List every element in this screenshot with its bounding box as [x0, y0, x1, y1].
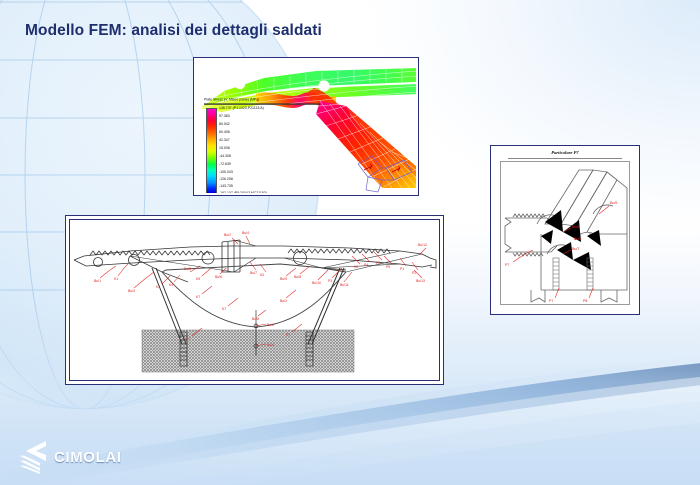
svg-text:Bu/7: Bu/7	[250, 271, 257, 275]
detail-p7-panel: Particolare P7	[490, 145, 640, 315]
girder-opening	[202, 252, 214, 264]
legend-value: -72.639	[219, 162, 231, 166]
legend-value: -162.107 (P5:20043,MC21183)	[219, 191, 267, 193]
svg-text:Bu/2: Bu/2	[224, 233, 231, 237]
elevation-drawing-panel: Bu/1 K1 Bu/3 K3 K4 Bu/5 K5 Bu/6 Bu/2 Bu/…	[65, 215, 444, 385]
svg-text:Bu/8: Bu/8	[252, 317, 259, 321]
fem-plot-inner: Plate Stress (V. Mises plane) (MPa) 135.…	[196, 60, 416, 193]
svg-text:Bu/6: Bu/6	[267, 323, 274, 327]
cimolai-logo-text: CIMOLAI	[54, 449, 122, 466]
chevron-stack-icon	[18, 440, 48, 474]
svg-text:P5: P5	[376, 261, 380, 265]
svg-text:Bu/3: Bu/3	[128, 289, 135, 293]
svg-text:K1: K1	[114, 277, 118, 281]
svg-text:P2: P2	[412, 271, 416, 275]
legend-value: 15.008	[219, 146, 230, 150]
legend-value: 135.737 (P1:1020,P21113:A)	[219, 106, 264, 110]
svg-text:Bu/6: Bu/6	[267, 343, 274, 347]
fem-plot-panel: Plate Stress (V. Mises plane) (MPa) 135.…	[193, 57, 419, 196]
legend-value: -44.308	[219, 154, 231, 158]
elevation-drawing-svg: Bu/1 K1 Bu/3 K3 K4 Bu/5 K5 Bu/6 Bu/2 Bu/…	[70, 220, 440, 381]
svg-text:Bu/6: Bu/6	[572, 225, 579, 229]
legend-value: 97.383	[219, 114, 230, 118]
detail-p7-title: Particolare P7	[494, 150, 636, 155]
svg-text:K7: K7	[222, 307, 226, 311]
legend-value: 42.347	[219, 138, 230, 142]
svg-text:Bu/5: Bu/5	[184, 267, 191, 271]
ground-hatch-block	[142, 330, 354, 372]
legend-value: -126.298	[219, 177, 233, 181]
svg-text:Bu/13: Bu/13	[416, 279, 425, 283]
fem-legend: Plate Stress (V. Mises plane) (MPa) 135.…	[204, 98, 290, 193]
svg-text:P7: P7	[286, 333, 290, 337]
svg-text:P4: P4	[364, 263, 368, 267]
svg-text:P7: P7	[549, 299, 553, 303]
svg-text:P6: P6	[386, 265, 390, 269]
svg-text:P7: P7	[186, 337, 190, 341]
svg-text:P7: P7	[505, 263, 509, 267]
node-marker-2	[318, 80, 329, 91]
cimolai-logo: CIMOLAI	[18, 440, 122, 474]
svg-text:K3: K3	[156, 285, 160, 289]
legend-value: 80.042	[219, 122, 230, 126]
svg-text:Bu/6: Bu/6	[215, 275, 222, 279]
svg-text:Bu/8: Bu/8	[574, 237, 581, 241]
detail-p7-svg: P7 Bu/5 Bu/6 Bu/7 Bu/8 P7 P8	[501, 162, 630, 305]
detail-p7-inner: Particolare P7	[494, 149, 636, 311]
svg-text:Bu/12: Bu/12	[418, 243, 427, 247]
svg-text:Bu/1: Bu/1	[94, 279, 101, 283]
svg-text:K7: K7	[196, 295, 200, 299]
svg-text:Bu/5: Bu/5	[610, 201, 617, 205]
svg-text:Bu/8: Bu/8	[294, 275, 301, 279]
detail-title-rule	[508, 158, 622, 159]
svg-text:Bu/11: Bu/11	[340, 283, 349, 287]
detail-p7-frame: P7 Bu/5 Bu/6 Bu/7 Bu/8 P7 P8	[500, 161, 630, 305]
svg-text:P3: P3	[328, 279, 332, 283]
node-marker-1	[235, 79, 245, 89]
svg-text:K4: K4	[169, 283, 173, 287]
fem-legend-body: 135.737 (P1:1020,P21113:A) 97.383 80.042…	[204, 106, 290, 194]
svg-text:Bu/2: Bu/2	[280, 299, 287, 303]
svg-text:K5: K5	[196, 277, 200, 281]
svg-text:Bu/4: Bu/4	[242, 231, 249, 235]
legend-value: 60.406	[219, 130, 230, 134]
svg-text:Bu/7: Bu/7	[572, 247, 579, 251]
svg-text:Bu/10: Bu/10	[312, 281, 321, 285]
svg-text:K6: K6	[354, 265, 358, 269]
fem-legend-title: Plate Stress (V. Mises plane) (MPa)	[204, 98, 320, 104]
svg-text:P1: P1	[400, 267, 404, 271]
slide-title: Modello FEM: analisi dei dettagli saldat…	[25, 22, 322, 40]
svg-text:K2: K2	[260, 273, 264, 277]
svg-text:Bu/9: Bu/9	[280, 277, 287, 281]
legend-value: -105.043	[219, 170, 233, 174]
fem-colorbar	[206, 108, 217, 194]
elevation-drawing-inner: Bu/1 K1 Bu/3 K3 K4 Bu/5 K5 Bu/6 Bu/2 Bu/…	[69, 219, 440, 381]
slide-canvas: Modello FEM: analisi dei dettagli saldat…	[0, 0, 700, 485]
legend-value: -143.735	[219, 184, 233, 188]
svg-text:P8: P8	[583, 299, 587, 303]
